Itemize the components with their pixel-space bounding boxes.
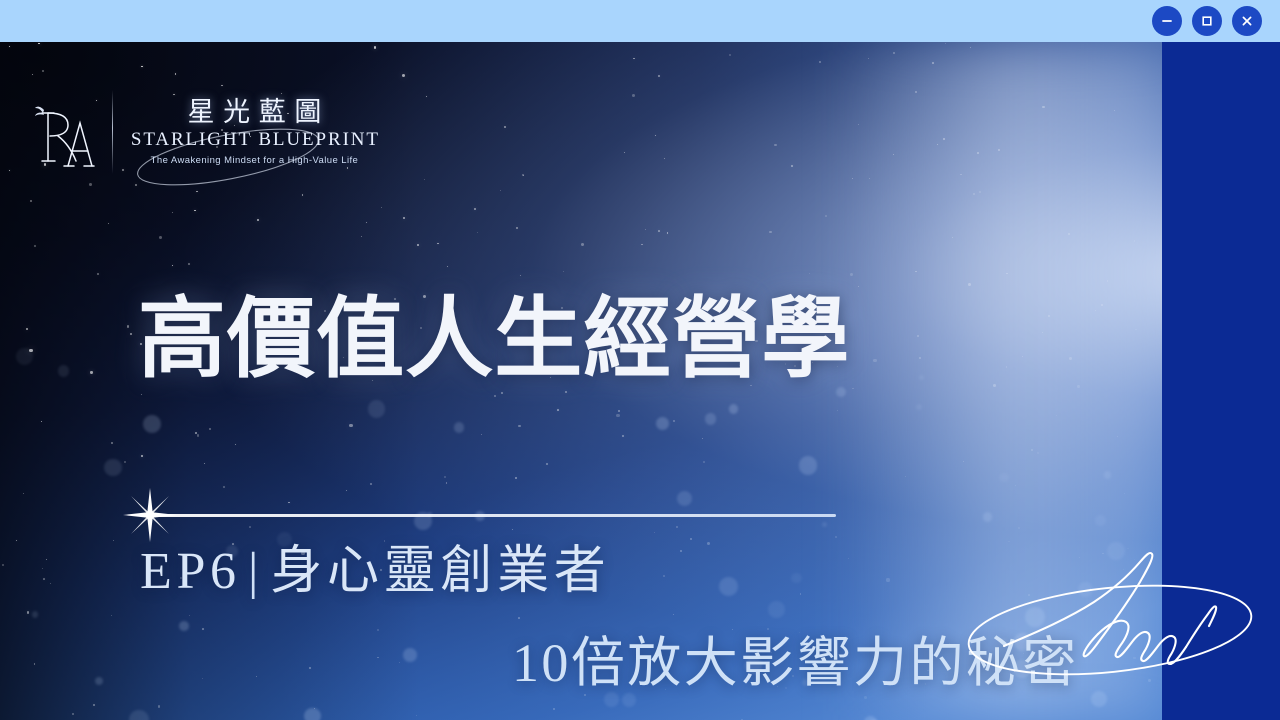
right-color-panel bbox=[1162, 42, 1280, 720]
brand-name-en: STARLIGHT BLUEPRINT bbox=[129, 130, 380, 151]
title-divider bbox=[126, 497, 836, 533]
window-titlebar bbox=[0, 0, 1280, 42]
divider-line bbox=[150, 514, 836, 517]
subtitle: 10倍放大影響力的秘密 bbox=[512, 636, 1079, 690]
episode-topic: 身心靈創業者 bbox=[270, 543, 610, 600]
brand-name-cn: 星光藍圖 bbox=[179, 97, 330, 128]
minimize-button[interactable] bbox=[1152, 6, 1182, 36]
minimize-icon bbox=[1160, 14, 1174, 28]
sparkle-star-icon bbox=[122, 487, 178, 548]
presentation-window: 星光藍圖 STARLIGHT BLUEPRINT The Awakening M… bbox=[0, 0, 1280, 720]
maximize-button[interactable] bbox=[1192, 6, 1222, 36]
page-title: 高價值人生經營學 bbox=[138, 297, 850, 385]
close-icon bbox=[1240, 14, 1254, 28]
slide-canvas: 星光藍圖 STARLIGHT BLUEPRINT The Awakening M… bbox=[0, 42, 1280, 720]
window-controls bbox=[1152, 6, 1280, 36]
brand-text: 星光藍圖 STARLIGHT BLUEPRINT The Awakening M… bbox=[129, 97, 380, 166]
logo-divider bbox=[112, 90, 113, 174]
maximize-icon bbox=[1200, 14, 1214, 28]
ra-monogram-icon bbox=[34, 93, 96, 171]
episode-number: EP6 bbox=[140, 543, 241, 600]
episode-line: EP6|身心靈創業者 bbox=[140, 546, 610, 598]
light-glow bbox=[835, 42, 1165, 720]
brand-logo: 星光藍圖 STARLIGHT BLUEPRINT The Awakening M… bbox=[34, 90, 380, 174]
close-button[interactable] bbox=[1232, 6, 1262, 36]
episode-separator: | bbox=[241, 543, 271, 600]
brand-tagline: The Awakening Mindset for a High-Value L… bbox=[151, 155, 359, 166]
